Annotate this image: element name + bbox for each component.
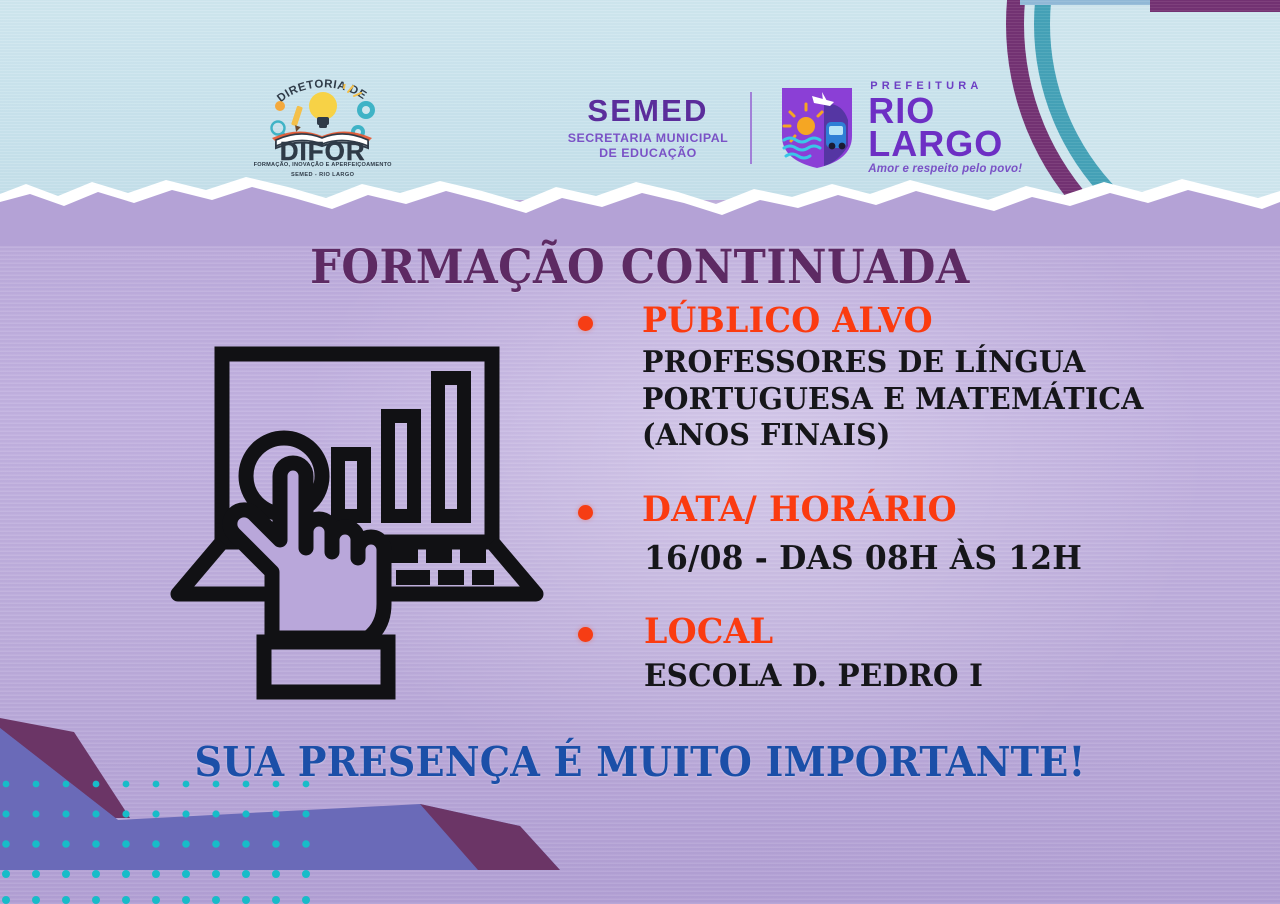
difor-wordmark: DIFOR [258, 138, 388, 164]
difor-subtitle: FORMAÇÃO, INOVAÇÃO E APERFEIÇOAMENTO [252, 162, 394, 168]
riolargo-line-1: RIO [868, 94, 1022, 127]
section-heading: PÚBLICO ALVO [642, 300, 1229, 341]
section-body-line: (ANOS FINAIS) [642, 418, 1229, 455]
corner-strip-blue [1020, 0, 1280, 5]
section-data-horario: DATA/ HORÁRIO 16/08 - DAS 08H ÀS 12H [560, 489, 1260, 579]
section-publico-alvo: PÚBLICO ALVO PROFESSORES DE LÍNGUA PORTU… [560, 300, 1260, 455]
semed-logo: SEMED SECRETARIA MUNICIPAL DE EDUCAÇÃO [568, 95, 729, 161]
section-heading: DATA/ HORÁRIO [642, 489, 1229, 530]
corner-strip-purple [1150, 0, 1280, 12]
section-heading: LOCAL [644, 611, 1229, 652]
section-local: LOCAL ESCOLA D. PEDRO I [560, 611, 1260, 696]
logo-divider [750, 92, 752, 164]
section-body: 16/08 - DAS 08H ÀS 12H [644, 538, 1229, 578]
riolargo-logo: PREFEITURA RIO LARGO Amor e respeito pel… [778, 81, 1022, 176]
section-body-line: 16/08 - DAS 08H ÀS 12H [644, 538, 1229, 578]
difor-logo: DIRETORIA DE [258, 72, 388, 184]
semed-acronym: SEMED [568, 95, 729, 126]
content-column: PÚBLICO ALVO PROFESSORES DE LÍNGUA PORTU… [560, 300, 1260, 700]
riolargo-tagline: Amor e respeito pelo povo! [868, 163, 1022, 175]
section-body-line: PORTUGUESA E MATEMÁTICA [642, 382, 1229, 419]
bullet-icon [578, 316, 593, 331]
section-body: ESCOLA D. PEDRO I [644, 658, 1229, 696]
logo-row: DIRETORIA DE [0, 68, 1280, 188]
difor-footer: SEMED - RIO LARGO [258, 172, 388, 178]
laptop-bar-chart-hand-click-icon [168, 336, 546, 716]
riolargo-shield-icon [778, 86, 856, 170]
bullet-icon [578, 505, 593, 520]
poster-canvas: DIRETORIA DE [0, 0, 1280, 904]
section-body-line: ESCOLA D. PEDRO I [644, 658, 1229, 696]
bullet-icon [578, 627, 593, 642]
page-title: FORMAÇÃO CONTINUADA [51, 240, 1229, 295]
semed-line-1: SECRETARIA MUNICIPAL [568, 131, 729, 146]
dot-grid-decoration [0, 778, 330, 904]
section-body-line: PROFESSORES DE LÍNGUA [642, 345, 1229, 382]
section-body: PROFESSORES DE LÍNGUA PORTUGUESA E MATEM… [642, 345, 1229, 455]
semed-line-2: DE EDUCAÇÃO [568, 146, 729, 161]
riolargo-line-2: LARGO [868, 127, 1022, 160]
